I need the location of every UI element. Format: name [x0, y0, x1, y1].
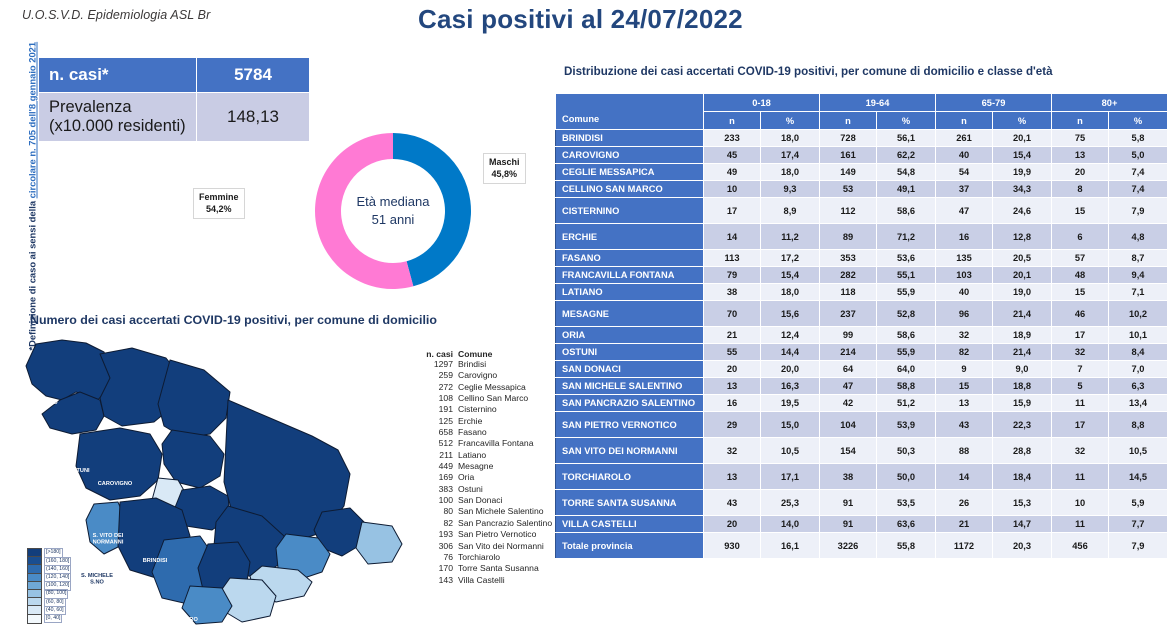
cases-list-count: 1297 [417, 359, 458, 370]
cases-list-comune: Cellino San Marco [458, 393, 528, 404]
table-cell-value: 13,4 [1109, 395, 1168, 412]
table-cell-value: 70 [704, 301, 761, 327]
table-cell-value: 10,2 [1109, 301, 1168, 327]
map-label-s-michele-s-no: S. MICHELES.NO [81, 573, 113, 585]
cases-list-item: 512Francavilla Fontana [417, 438, 552, 449]
table-cell-value: 99 [820, 327, 877, 344]
table-cell-value: 233 [704, 130, 761, 147]
table-cell-value: 63,6 [877, 516, 936, 533]
cases-list-header-n: n. casi [417, 349, 458, 359]
male-value: 45,8% [489, 169, 520, 181]
table-cell-value: 34,3 [993, 181, 1052, 198]
table-cell-value: 55,9 [877, 284, 936, 301]
col-header-age-80plus: 80+ [1052, 94, 1168, 112]
table-cell-value: 112 [820, 198, 877, 224]
table-row: TORCHIAROLO1317,13850,01418,41114,5 [556, 464, 1168, 490]
table-cell-value: 20,5 [993, 250, 1052, 267]
table-row: CEGLIE MESSAPICA4918,014954,85419,9207,4 [556, 164, 1168, 181]
table-cell-value: 9 [936, 361, 993, 378]
table-cell-value: 64,0 [877, 361, 936, 378]
map-label-cisternino: CISTERNINO [31, 468, 66, 474]
table-cell-value: 930 [704, 533, 761, 559]
table-cell-value: 21,4 [993, 301, 1052, 327]
table-cell-value: 58,8 [877, 378, 936, 395]
table-cell-value: 7,4 [1109, 181, 1168, 198]
table-cell-value: 8 [1052, 181, 1109, 198]
table-cell-value: 54 [936, 164, 993, 181]
table-cell-comune: CELLINO SAN MARCO [556, 181, 704, 198]
table-cell-value: 12,4 [761, 327, 820, 344]
table-cell-value: 18,0 [761, 130, 820, 147]
table-cell-value: 19,0 [993, 284, 1052, 301]
table-cell-value: 14,5 [1109, 464, 1168, 490]
table-row: BRINDISI23318,072856,126120,1755,8 [556, 130, 1168, 147]
table-cell-value: 13 [704, 464, 761, 490]
table-cell-value: 32 [936, 327, 993, 344]
table-cell-value: 15,0 [761, 412, 820, 438]
table-cell-value: 17,2 [761, 250, 820, 267]
table-cell-value: 38 [820, 464, 877, 490]
organization-label: U.O.S.V.D. Epidemiologia ASL Br [22, 8, 210, 22]
table-cell-value: 17,4 [761, 147, 820, 164]
table-cell-value: 282 [820, 267, 877, 284]
table-cell-value: 46 [1052, 301, 1109, 327]
cases-list-comune: Erchie [458, 416, 482, 427]
table-cell-value: 53,5 [877, 490, 936, 516]
cases-list-count: 80 [417, 506, 458, 517]
table-cell-value: 20,1 [993, 267, 1052, 284]
table-cell-value: 20,0 [761, 361, 820, 378]
cases-by-comune-list: n. casi Comune 1297Brindisi259Carovigno2… [417, 349, 552, 586]
table-cell-comune: SAN MICHELE SALENTINO [556, 378, 704, 395]
table-row: SAN PANCRAZIO SALENTINO1619,54251,21315,… [556, 395, 1168, 412]
cases-list-item: 272Ceglie Messapica [417, 382, 552, 393]
distribution-table-title: Distribuzione dei casi accertati COVID-1… [564, 65, 1053, 78]
cases-list-comune: Ceglie Messapica [458, 382, 526, 393]
cases-list-count: 658 [417, 427, 458, 438]
map-title: Numero dei casi accertati COVID-19 posit… [30, 313, 437, 327]
cases-list-comune: San Vito dei Normanni [458, 541, 544, 552]
table-cell-value: 7,9 [1109, 198, 1168, 224]
table-cell-value: 1172 [936, 533, 993, 559]
table-cell-value: 82 [936, 344, 993, 361]
table-cell-value: 53 [820, 181, 877, 198]
table-row: CELLINO SAN MARCO109,35349,13734,387,4 [556, 181, 1168, 198]
table-cell-value: 15,4 [761, 267, 820, 284]
cases-list-count: 306 [417, 541, 458, 552]
map-svg: FASANOCISTERNINOOSTUNICAROVIGNOCEGLIEMES… [24, 330, 424, 630]
male-label: Maschi [489, 157, 520, 169]
cases-list-item: 80San Michele Salentino [417, 506, 552, 517]
cases-list-comune: Latiano [458, 450, 486, 461]
table-cell-value: 53,9 [877, 412, 936, 438]
cases-list-comune: San Pancrazio Salentino [458, 518, 552, 529]
map-legend: [>180](160, 180](140, 160](120, 140](100… [27, 549, 71, 623]
table-cell-value: 16,1 [761, 533, 820, 559]
table-cell-value: 7,4 [1109, 164, 1168, 181]
choropleth-map: FASANOCISTERNINOOSTUNICAROVIGNOCEGLIEMES… [24, 330, 424, 630]
map-label-carovigno: CAROVIGNO [98, 481, 133, 487]
table-cell-value: 10 [1052, 490, 1109, 516]
table-row: LATIANO3818,011855,94019,0157,1 [556, 284, 1168, 301]
table-cell-comune: BRINDISI [556, 130, 704, 147]
distribution-table-body: BRINDISI23318,072856,126120,1755,8CAROVI… [556, 130, 1168, 559]
map-area-torchiarolo[interactable] [356, 522, 402, 564]
table-cell-comune: SAN PIETRO VERNOTICO [556, 412, 704, 438]
table-cell-comune: OSTUNI [556, 344, 704, 361]
distribution-table-head: Comune 0-18 19-64 65-79 80+ n%n%n%n% [556, 94, 1168, 130]
table-cell-value: 62,2 [877, 147, 936, 164]
slide-root: U.O.S.V.D. Epidemiologia ASL Br Casi pos… [0, 0, 1170, 634]
table-cell-value: 91 [820, 516, 877, 533]
table-cell-value: 64 [820, 361, 877, 378]
table-cell-value: 7 [1052, 361, 1109, 378]
donut-callout-male: Maschi 45,8% [483, 153, 526, 184]
table-cell-comune: CEGLIE MESSAPICA [556, 164, 704, 181]
col-header-age-0-18: 0-18 [704, 94, 820, 112]
cases-list-count: 272 [417, 382, 458, 393]
col-subheader-percent: % [761, 112, 820, 130]
cases-list-count: 76 [417, 552, 458, 563]
table-cell-value: 43 [936, 412, 993, 438]
cases-list-header: n. casi Comune [417, 349, 552, 359]
table-cell-value: 48 [1052, 267, 1109, 284]
table-cell-value: 16 [936, 224, 993, 250]
table-cell-value: 5,9 [1109, 490, 1168, 516]
page-title: Casi positivi al 24/07/2022 [418, 4, 743, 35]
table-cell-value: 56,1 [877, 130, 936, 147]
table-cell-value: 149 [820, 164, 877, 181]
cases-list-item: 169Oria [417, 472, 552, 483]
table-cell-value: 9,4 [1109, 267, 1168, 284]
cases-list-comune: San Pietro Vernotico [458, 529, 536, 540]
table-cell-value: 51,2 [877, 395, 936, 412]
table-cell-value: 15 [936, 378, 993, 395]
table-cell-comune: TORCHIAROLO [556, 464, 704, 490]
col-subheader-percent: % [1109, 112, 1168, 130]
table-cell-value: 8,4 [1109, 344, 1168, 361]
col-subheader-count: n [704, 112, 761, 130]
summary-value-cases: 5784 [197, 58, 310, 93]
table-cell-value: 17,1 [761, 464, 820, 490]
map-area-fasano[interactable] [26, 340, 112, 400]
table-cell-value: 6 [1052, 224, 1109, 250]
cases-list-item: 191Cisternino [417, 404, 552, 415]
legend-item: [0, 40] [27, 615, 71, 623]
map-label-mesagne: MESAGNE [123, 621, 152, 627]
table-cell-value: 456 [1052, 533, 1109, 559]
col-subheader-count: n [936, 112, 993, 130]
table-row: TORRE SANTA SUSANNA4325,39153,52615,3105… [556, 490, 1168, 516]
table-cell-value: 11 [1052, 516, 1109, 533]
table-cell-value: 16 [704, 395, 761, 412]
table-cell-value: 32 [1052, 344, 1109, 361]
cases-list-item: 383Ostuni [417, 484, 552, 495]
table-cell-comune: FASANO [556, 250, 704, 267]
cases-list-count: 170 [417, 563, 458, 574]
table-row: SAN DONACI2020,06464,099,077,0 [556, 361, 1168, 378]
cases-list-item: 143Villa Castelli [417, 575, 552, 586]
cases-list-count: 211 [417, 450, 458, 461]
summary-row-cases: n. casi* 5784 [39, 58, 310, 93]
table-cell-value: 10 [704, 181, 761, 198]
map-area-ceglie-messapica[interactable] [76, 428, 162, 500]
col-subheader-count: n [1052, 112, 1109, 130]
table-cell-value: 50,3 [877, 438, 936, 464]
cases-list-item: 306San Vito dei Normanni [417, 541, 552, 552]
table-cell-value: 3226 [820, 533, 877, 559]
table-row: MESAGNE7015,623752,89621,44610,2 [556, 301, 1168, 327]
table-cell-value: 18,9 [993, 327, 1052, 344]
table-row: CAROVIGNO4517,416162,24015,4135,0 [556, 147, 1168, 164]
map-area-carovigno[interactable] [158, 360, 230, 438]
table-cell-value: 21 [936, 516, 993, 533]
table-cell-comune: SAN DONACI [556, 361, 704, 378]
cases-list-item: 76Torchiarolo [417, 552, 552, 563]
table-cell-value: 55,8 [877, 533, 936, 559]
table-cell-value: 237 [820, 301, 877, 327]
table-cell-value: 18,0 [761, 284, 820, 301]
summary-table: n. casi* 5784 Prevalenza (x10.000 reside… [38, 57, 310, 142]
table-row: FASANO11317,235353,613520,5578,7 [556, 250, 1168, 267]
table-cell-value: 45 [704, 147, 761, 164]
cases-list-item: 125Erchie [417, 416, 552, 427]
summary-value-prevalence: 148,13 [197, 93, 310, 142]
table-cell-comune: Totale provincia [556, 533, 704, 559]
cases-list-comune: Torchiarolo [458, 552, 500, 563]
table-row: ERCHIE1411,28971,21612,864,8 [556, 224, 1168, 250]
table-cell-value: 15 [1052, 284, 1109, 301]
table-cell-value: 13 [704, 378, 761, 395]
cases-list-comune: Villa Castelli [458, 575, 505, 586]
table-cell-value: 4,8 [1109, 224, 1168, 250]
table-cell-value: 20 [1052, 164, 1109, 181]
cases-list-item: 193San Pietro Vernotico [417, 529, 552, 540]
table-cell-value: 25,3 [761, 490, 820, 516]
cases-list-comune: Brindisi [458, 359, 486, 370]
table-cell-value: 11,2 [761, 224, 820, 250]
cases-list-comune: Mesagne [458, 461, 493, 472]
table-cell-value: 40 [936, 147, 993, 164]
map-label-brindisi: BRINDISI [143, 558, 168, 564]
cases-list-count: 512 [417, 438, 458, 449]
table-cell-value: 8,7 [1109, 250, 1168, 267]
cases-list-count: 191 [417, 404, 458, 415]
table-cell-value: 71,2 [877, 224, 936, 250]
table-cell-value: 7,1 [1109, 284, 1168, 301]
cases-list-count: 108 [417, 393, 458, 404]
table-cell-value: 10,5 [1109, 438, 1168, 464]
cases-list-count: 125 [417, 416, 458, 427]
table-cell-value: 15,9 [993, 395, 1052, 412]
table-row: SAN PIETRO VERNOTICO2915,010453,94322,31… [556, 412, 1168, 438]
table-cell-value: 11 [1052, 464, 1109, 490]
table-cell-value: 14 [704, 224, 761, 250]
table-cell-value: 353 [820, 250, 877, 267]
table-row: SAN MICHELE SALENTINO1316,34758,81518,85… [556, 378, 1168, 395]
table-cell-value: 43 [704, 490, 761, 516]
footnote-prefix: *Definizione di caso ai sensi della [27, 198, 38, 350]
table-cell-comune: VILLA CASTELLI [556, 516, 704, 533]
table-cell-value: 214 [820, 344, 877, 361]
table-cell-value: 21 [704, 327, 761, 344]
table-cell-value: 91 [820, 490, 877, 516]
map-label-s-pietro-v-co: S. PIETROV.CO [170, 617, 198, 629]
table-cell-value: 18,0 [761, 164, 820, 181]
table-cell-value: 19,9 [993, 164, 1052, 181]
cases-list-comune: Oria [458, 472, 474, 483]
cases-list-item: 100San Donaci [417, 495, 552, 506]
summary-label-cases: n. casi* [39, 58, 197, 93]
legend-swatch [27, 614, 42, 624]
table-cell-value: 5 [1052, 378, 1109, 395]
cases-list-item: 170Torre Santa Susanna [417, 563, 552, 574]
table-cell-value: 20 [704, 361, 761, 378]
cases-list-item: 108Cellino San Marco [417, 393, 552, 404]
table-cell-value: 26 [936, 490, 993, 516]
cases-list-comune: San Donaci [458, 495, 502, 506]
table-cell-value: 14,0 [761, 516, 820, 533]
footnote-link[interactable]: circolare n. 705 dell'8 gennaio 2021 [27, 42, 38, 198]
map-label-fasano: FASANO [34, 400, 58, 406]
table-cell-comune: ORIA [556, 327, 704, 344]
table-cell-value: 50,0 [877, 464, 936, 490]
cases-list-item: 1297Brindisi [417, 359, 552, 370]
table-cell-value: 728 [820, 130, 877, 147]
table-cell-value: 32 [1052, 438, 1109, 464]
table-cell-value: 55 [704, 344, 761, 361]
map-label-latiano: LATIANO [103, 597, 128, 603]
table-cell-value: 55,1 [877, 267, 936, 284]
case-definition-footnote: *Definizione di caso ai sensi della circ… [27, 91, 38, 351]
table-cell-comune: TORRE SANTA SUSANNA [556, 490, 704, 516]
cases-list-comune: Ostuni [458, 484, 483, 495]
cases-list-item: 658Fasano [417, 427, 552, 438]
table-cell-value: 103 [936, 267, 993, 284]
table-cell-value: 15,3 [993, 490, 1052, 516]
female-label: Femmine [199, 192, 239, 204]
map-label-ostuni: OSTUNI [68, 468, 90, 474]
col-header-age-65-79: 65-79 [936, 94, 1052, 112]
table-cell-value: 20 [704, 516, 761, 533]
cases-list-item: 211Latiano [417, 450, 552, 461]
table-cell-value: 20,1 [993, 130, 1052, 147]
table-cell-value: 7,0 [1109, 361, 1168, 378]
table-cell-value: 17 [1052, 327, 1109, 344]
table-cell-comune: FRANCAVILLA FONTANA [556, 267, 704, 284]
table-cell-value: 28,8 [993, 438, 1052, 464]
table-cell-value: 10,5 [761, 438, 820, 464]
table-cell-value: 18,8 [993, 378, 1052, 395]
table-cell-value: 12,8 [993, 224, 1052, 250]
table-cell-value: 8,8 [1109, 412, 1168, 438]
map-area-cisternino[interactable] [42, 392, 104, 434]
table-cell-value: 54,8 [877, 164, 936, 181]
cases-list-comune: Torre Santa Susanna [458, 563, 539, 574]
table-cell-value: 29 [704, 412, 761, 438]
cases-list-count: 193 [417, 529, 458, 540]
table-cell-comune: ERCHIE [556, 224, 704, 250]
col-header-comune: Comune [556, 94, 704, 130]
table-row: OSTUNI5514,421455,98221,4328,4 [556, 344, 1168, 361]
cases-list-count: 100 [417, 495, 458, 506]
donut-svg [303, 118, 483, 308]
table-cell-value: 22,3 [993, 412, 1052, 438]
table-cell-value: 13 [936, 395, 993, 412]
summary-label-prevalence: Prevalenza (x10.000 residenti) [39, 93, 197, 142]
table-cell-value: 8,9 [761, 198, 820, 224]
table-cell-value: 55,9 [877, 344, 936, 361]
female-value: 54,2% [199, 204, 239, 216]
table-row-total: Totale provincia93016,1322655,8117220,34… [556, 533, 1168, 559]
table-cell-value: 13 [1052, 147, 1109, 164]
table-cell-value: 42 [820, 395, 877, 412]
table-cell-value: 15,6 [761, 301, 820, 327]
table-cell-value: 9,0 [993, 361, 1052, 378]
table-cell-value: 104 [820, 412, 877, 438]
table-cell-value: 5,8 [1109, 130, 1168, 147]
cases-list-count: 82 [417, 518, 458, 529]
table-cell-value: 88 [936, 438, 993, 464]
table-cell-value: 20,3 [993, 533, 1052, 559]
table-cell-comune: CISTERNINO [556, 198, 704, 224]
table-cell-value: 11 [1052, 395, 1109, 412]
table-cell-value: 5,0 [1109, 147, 1168, 164]
table-row: CISTERNINO178,911258,64724,6157,9 [556, 198, 1168, 224]
table-cell-value: 38 [704, 284, 761, 301]
table-cell-value: 40 [936, 284, 993, 301]
table-cell-value: 7,7 [1109, 516, 1168, 533]
cases-list-count: 259 [417, 370, 458, 381]
summary-row-prevalence: Prevalenza (x10.000 residenti) 148,13 [39, 93, 310, 142]
table-cell-comune: LATIANO [556, 284, 704, 301]
table-cell-value: 19,5 [761, 395, 820, 412]
table-cell-value: 14 [936, 464, 993, 490]
table-cell-value: 24,6 [993, 198, 1052, 224]
table-cell-value: 17 [704, 198, 761, 224]
table-row: VILLA CASTELLI2014,09163,62114,7117,7 [556, 516, 1168, 533]
cases-list-count: 143 [417, 575, 458, 586]
table-cell-value: 10,1 [1109, 327, 1168, 344]
table-cell-value: 47 [936, 198, 993, 224]
table-cell-value: 7,9 [1109, 533, 1168, 559]
table-cell-value: 118 [820, 284, 877, 301]
cases-list-comune: San Michele Salentino [458, 506, 544, 517]
table-cell-comune: SAN PANCRAZIO SALENTINO [556, 395, 704, 412]
sex-distribution-donut: Età mediana 51 anni Femmine 54,2% Maschi… [303, 118, 483, 308]
cases-list-count: 449 [417, 461, 458, 472]
table-cell-value: 47 [820, 378, 877, 395]
table-row: FRANCAVILLA FONTANA7915,428255,110320,14… [556, 267, 1168, 284]
col-subheader-percent: % [877, 112, 936, 130]
table-cell-value: 15 [1052, 198, 1109, 224]
table-cell-value: 17 [1052, 412, 1109, 438]
cases-list-comune: Carovigno [458, 370, 497, 381]
table-cell-value: 32 [704, 438, 761, 464]
table-cell-value: 37 [936, 181, 993, 198]
table-cell-value: 113 [704, 250, 761, 267]
table-cell-value: 89 [820, 224, 877, 250]
table-cell-value: 154 [820, 438, 877, 464]
table-cell-value: 15,4 [993, 147, 1052, 164]
table-cell-value: 79 [704, 267, 761, 284]
cases-list-comune: Fasano [458, 427, 487, 438]
table-cell-value: 21,4 [993, 344, 1052, 361]
cases-list-header-comune: Comune [458, 349, 492, 359]
cases-list-item: 82San Pancrazio Salentino [417, 518, 552, 529]
table-cell-value: 18,4 [993, 464, 1052, 490]
table-cell-value: 9,3 [761, 181, 820, 198]
